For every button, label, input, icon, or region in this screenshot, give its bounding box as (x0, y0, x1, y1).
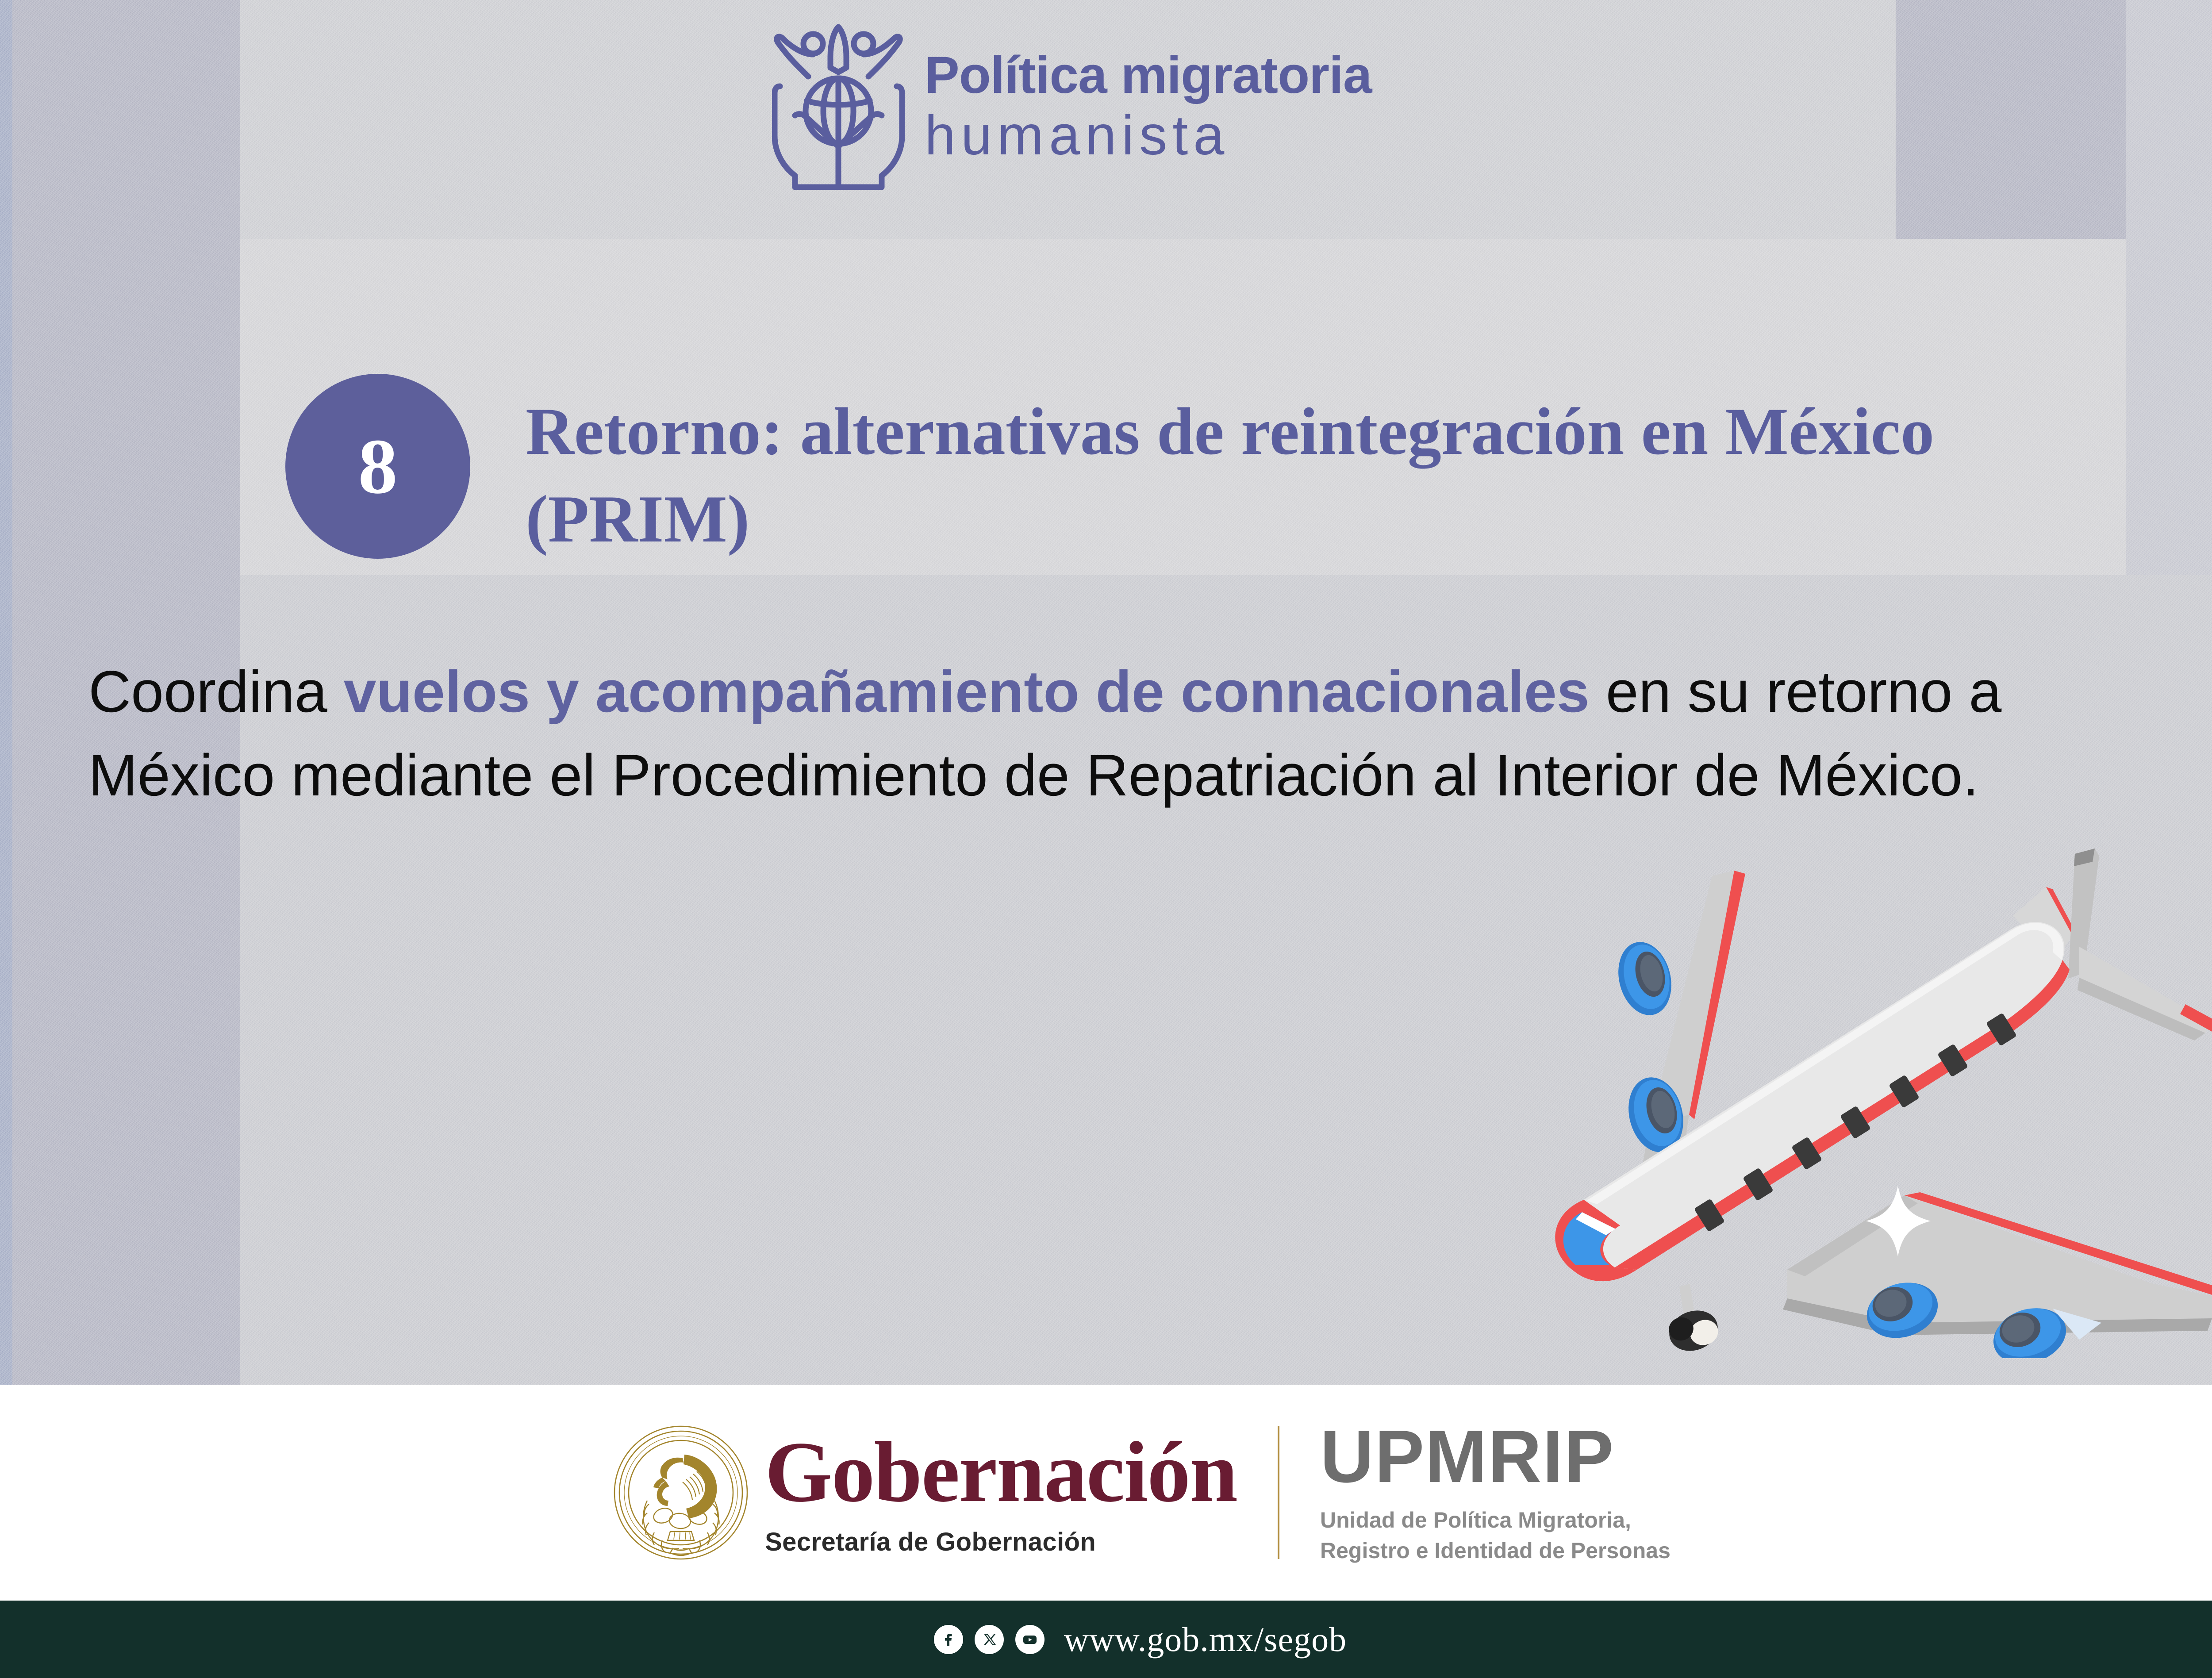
x-twitter-icon[interactable] (975, 1625, 1004, 1654)
infographic-canvas: Política migratoria humanista 8 Retorno:… (0, 0, 2212, 1678)
page-title: Retorno: alternativas de reintegración e… (526, 374, 2052, 563)
body-text-highlight: vuelos y acompañamiento de connacionales (344, 659, 1590, 725)
airplane-illustration (1504, 814, 2212, 1358)
brand-line-1: Política migratoria (925, 49, 1372, 101)
footer-logos: Gobernación Secretaría de Gobernación UP… (0, 1385, 2212, 1601)
header-brand: Política migratoria humanista (772, 20, 1372, 192)
website-url[interactable]: www.gob.mx/segob (1064, 1620, 1347, 1659)
gobernacion-subtitle: Secretaría de Gobernación (765, 1527, 1237, 1557)
title-row: 8 Retorno: alternativas de reintegración… (285, 374, 2052, 563)
section-number-badge: 8 (285, 374, 470, 559)
facebook-icon[interactable] (934, 1625, 963, 1654)
upmrip-title: UPMRIP (1320, 1419, 1671, 1494)
upmrip-subtitle-line1: Unidad de Política Migratoria, (1320, 1505, 1671, 1536)
mexican-coat-of-arms-icon (610, 1422, 752, 1563)
hands-cradling-globe-icon (772, 20, 905, 192)
gobernacion-title: Gobernación (765, 1429, 1237, 1516)
upmrip-subtitle-line2: Registro e Identidad de Personas (1320, 1536, 1671, 1566)
body-text-part1: Coordina (88, 659, 344, 725)
section-number: 8 (358, 427, 398, 506)
brand-line-2: humanista (925, 108, 1372, 163)
body-paragraph: Coordina vuelos y acompañamiento de conn… (88, 650, 2075, 818)
footer-divider (1278, 1426, 1279, 1559)
youtube-icon[interactable] (1015, 1625, 1045, 1654)
bottom-bar: www.gob.mx/segob (0, 1601, 2212, 1678)
